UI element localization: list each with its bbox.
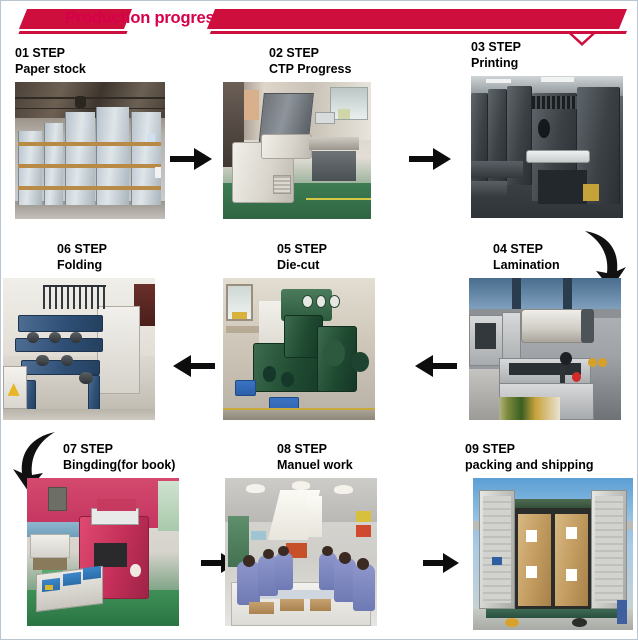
step-card-01[interactable]: 01 STEP Paper stock [15,45,165,219]
step-number-05: 05 STEP [277,241,375,257]
banner-right-bar [207,9,627,29]
header-banner: Production progress [1,1,637,41]
arrow-step01-to-step02 [168,144,214,174]
production-progress-infographic: Production progress 01 STEP Paper stock [0,0,638,640]
banner-right-rule [210,31,627,34]
step-card-09[interactable]: 09 STEP packing and shipping [465,441,633,630]
arrow-step08-to-step09 [421,549,461,577]
step-name-04: Lamination [493,257,621,274]
step-photo-09[interactable] [473,478,633,630]
step-number-06: 06 STEP [57,241,155,257]
step-caption-07: 07 STEP Bingding(for book) [63,441,179,474]
step-number-03: 03 STEP [471,39,623,55]
step-name-06: Folding [57,257,155,274]
step-card-08[interactable]: 08 STEP Manuel work [277,441,377,626]
step-name-08: Manuel work [277,457,377,474]
step-caption-05: 05 STEP Die-cut [277,241,375,274]
step-photo-08[interactable] [225,478,377,626]
arrow-step05-to-step06 [171,351,217,381]
step-number-04: 04 STEP [493,241,621,257]
step-caption-03: 03 STEP Printing [471,39,623,72]
step-caption-04: 04 STEP Lamination [493,241,621,274]
step-card-07[interactable]: 07 STEP Bingding(for book) [63,441,179,626]
step-photo-02[interactable] [223,82,371,219]
step-card-02[interactable]: 02 STEP CTP Progress [269,45,371,219]
step-number-07: 07 STEP [63,441,179,457]
step-name-03: Printing [471,55,623,72]
step-photo-07[interactable] [27,478,179,626]
step-photo-04[interactable] [469,278,621,420]
step-card-03[interactable]: 03 STEP Printing [471,39,623,218]
arrow-step02-to-step03 [407,144,453,174]
banner-left-rule [18,31,127,34]
step-photo-06[interactable] [3,278,155,420]
step-caption-09: 09 STEP packing and shipping [465,441,633,474]
step-name-02: CTP Progress [269,61,371,78]
step-photo-03[interactable] [471,76,623,218]
step-number-09: 09 STEP [465,441,633,457]
step-name-09: packing and shipping [465,457,633,474]
step-caption-02: 02 STEP CTP Progress [269,45,371,78]
step-name-07: Bingding(for book) [63,457,179,474]
step-photo-05[interactable] [223,278,375,420]
step-name-05: Die-cut [277,257,375,274]
step-photo-01[interactable] [15,82,165,219]
step-card-06[interactable]: 06 STEP Folding [57,241,155,420]
step-card-05[interactable]: 05 STEP Die-cut [277,241,375,420]
step-number-08: 08 STEP [277,441,377,457]
step-caption-01: 01 STEP Paper stock [15,45,165,78]
step-name-01: Paper stock [15,61,165,78]
step-caption-06: 06 STEP Folding [57,241,155,274]
page-title: Production progress [65,9,223,28]
step-card-04[interactable]: 04 STEP Lamination [493,241,621,420]
arrow-step04-to-step05 [413,351,459,381]
step-number-02: 02 STEP [269,45,371,61]
step-caption-08: 08 STEP Manuel work [277,441,377,474]
step-number-01: 01 STEP [15,45,165,61]
